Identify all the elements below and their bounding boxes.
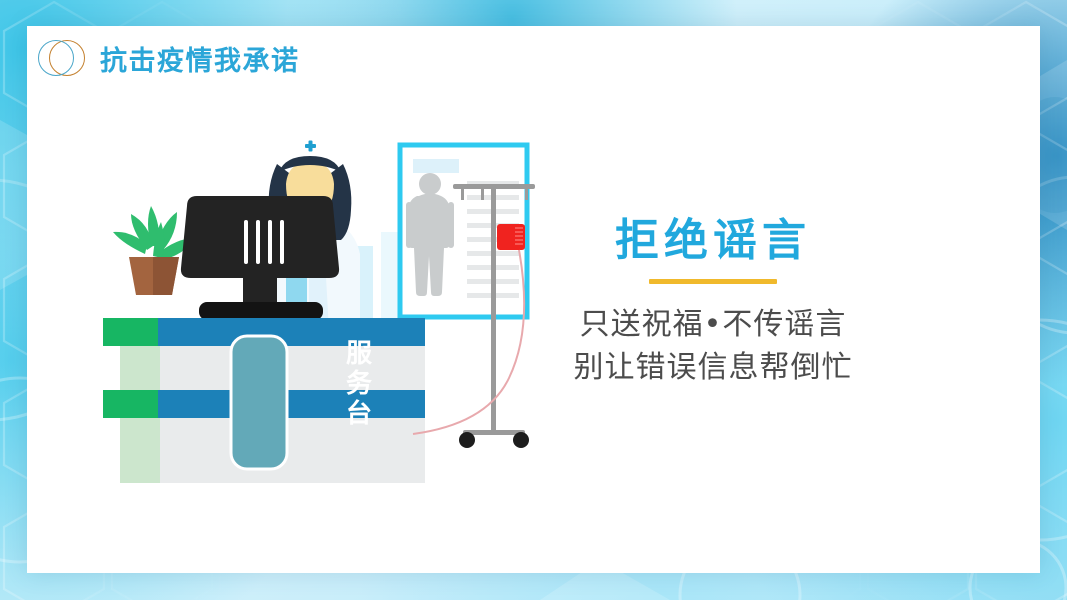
desk-sign-label: 服 务 台 xyxy=(331,340,387,430)
headline: 拒绝谣言 xyxy=(543,216,883,265)
slide-root: 抗击疫情我承诺 xyxy=(0,0,1067,600)
brand-header: 抗击疫情我承诺 xyxy=(38,35,300,81)
iv-hook-mid xyxy=(481,189,484,200)
two-overlapping-rings-logo xyxy=(38,37,86,79)
monitor-base xyxy=(199,302,323,320)
desk-middle-bar-green xyxy=(103,390,158,418)
iv-wheel-right xyxy=(513,432,529,448)
desk-sign-char-1: 服 xyxy=(331,340,387,370)
desk-sign-char-2: 务 xyxy=(331,370,387,400)
hospital-reception-illustration: 服 务 台 xyxy=(95,128,555,528)
plant-pot-shadow xyxy=(153,257,179,295)
iv-blood-bag xyxy=(497,224,525,250)
desk-top-bar-green xyxy=(103,318,158,346)
subline-2: 别让错误信息帮倒忙 xyxy=(543,347,883,390)
headline-underline xyxy=(649,279,777,284)
monitor-neck xyxy=(243,276,277,306)
subline-1: 只送祝福•不传谣言 xyxy=(543,304,883,347)
brand-title: 抗击疫情我承诺 xyxy=(100,39,300,78)
logo-ring-blue xyxy=(38,40,74,76)
iv-hanger-bar xyxy=(453,184,535,189)
desk-sign-char-3: 台 xyxy=(331,400,387,430)
iv-hook-right xyxy=(525,189,528,200)
iv-wheel-left xyxy=(459,432,475,448)
message-block: 拒绝谣言 只送祝福•不传谣言 别让错误信息帮倒忙 xyxy=(543,216,883,389)
desk-sign-plate xyxy=(231,336,287,469)
iv-hook-left xyxy=(461,189,464,200)
